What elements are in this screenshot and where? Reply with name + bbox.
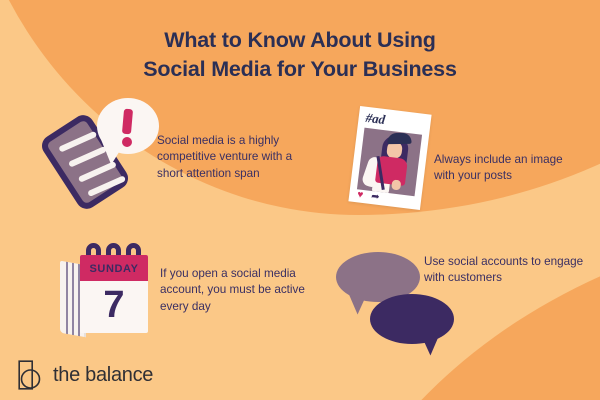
desk-calendar-icon: SUNDAY 7: [58, 243, 163, 343]
speech-bubble-bottom: [370, 294, 454, 344]
page-title-line-1: What to Know About Using: [0, 26, 600, 55]
polaroid-frame: #ad ♥ ➦: [348, 106, 431, 210]
calendar-weekday-label: SUNDAY: [80, 263, 148, 275]
item-text-phone: Social media is a highly competitive ven…: [157, 133, 307, 182]
item-text-bubbles: Use social accounts to engage with custo…: [424, 254, 584, 287]
page-title: What to Know About Using Social Media fo…: [0, 26, 600, 84]
infographic-canvas: What to Know About Using Social Media fo…: [0, 0, 600, 400]
balance-mark-icon: [18, 360, 44, 390]
person-hand: [391, 179, 401, 190]
heart-icon: ♥: [357, 191, 367, 200]
brand-name: the balance: [53, 364, 153, 387]
item-text-polaroid: Always include an image with your posts: [434, 152, 584, 185]
person-hat: [387, 133, 411, 144]
polaroid-photo-area: [357, 128, 422, 197]
calendar-page-edge: [66, 262, 68, 334]
polaroid-ad-caption: #ad: [365, 110, 386, 128]
item-text-calendar: If you open a social media account, you …: [160, 266, 316, 315]
phone-text-line: [87, 175, 126, 197]
calendar-front-page: SUNDAY 7: [80, 255, 148, 333]
phone-text-line: [58, 131, 97, 153]
polaroid-photo-ad-icon: #ad ♥ ➦: [352, 108, 442, 212]
calendar-date-number: 7: [80, 283, 148, 327]
page-title-line-2: Social Media for Your Business: [0, 55, 600, 84]
exclamation-dot-icon: [122, 137, 132, 147]
phone-with-alert-bubble-icon: [50, 98, 160, 208]
the-balance-logo[interactable]: the balance: [18, 360, 153, 390]
calendar-page-edge: [72, 263, 74, 335]
share-icon: ➦: [371, 193, 381, 202]
